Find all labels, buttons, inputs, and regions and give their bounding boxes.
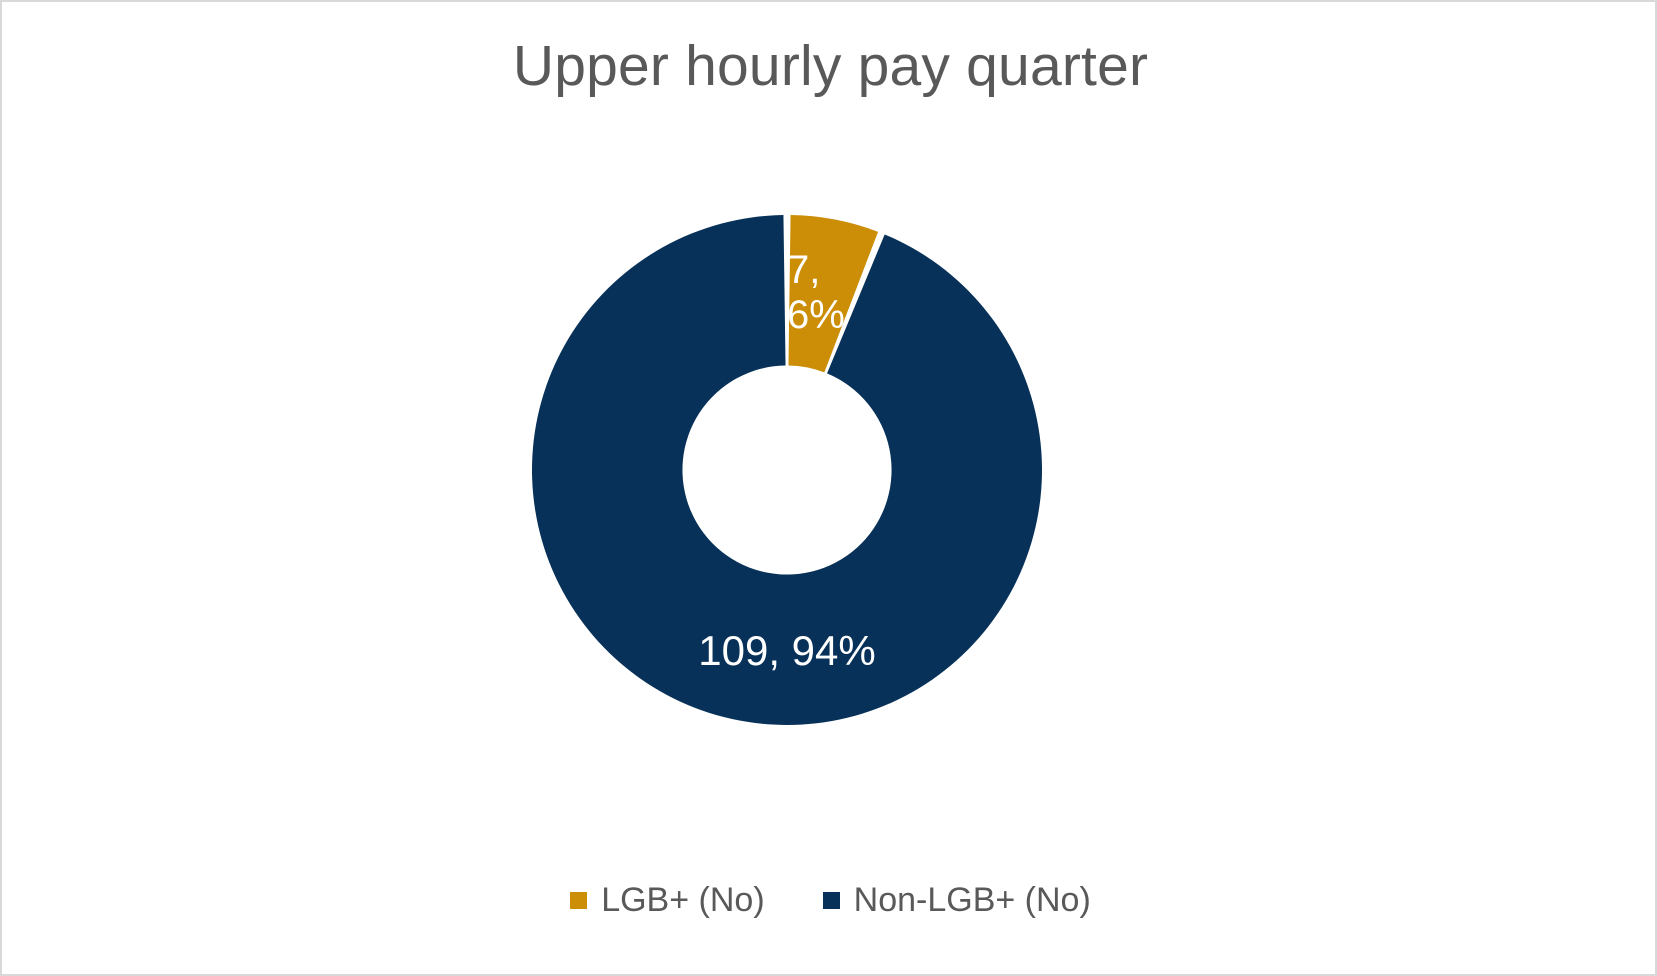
page-title: Upper hourly pay quarter: [2, 34, 1657, 100]
legend-item-non-lgb[interactable]: Non-LGB+ (No): [823, 882, 1091, 919]
donut-chart: 7, 6% 109, 94%: [529, 212, 1045, 728]
legend-swatch-icon-lgb: [570, 892, 587, 909]
legend-item-lgb[interactable]: LGB+ (No): [570, 882, 764, 919]
chart-legend: LGB+ (No) Non-LGB+ (No): [2, 882, 1657, 919]
legend-label-lgb: LGB+ (No): [601, 882, 764, 919]
legend-label-non-lgb: Non-LGB+ (No): [854, 882, 1091, 919]
donut-slices: [532, 215, 1042, 725]
legend-swatch-icon-non-lgb: [823, 892, 840, 909]
donut-slice[interactable]: [532, 215, 1042, 725]
donut-chart-svg: [529, 212, 1045, 728]
chart-canvas: Upper hourly pay quarter 7, 6% 109, 94% …: [0, 0, 1657, 976]
